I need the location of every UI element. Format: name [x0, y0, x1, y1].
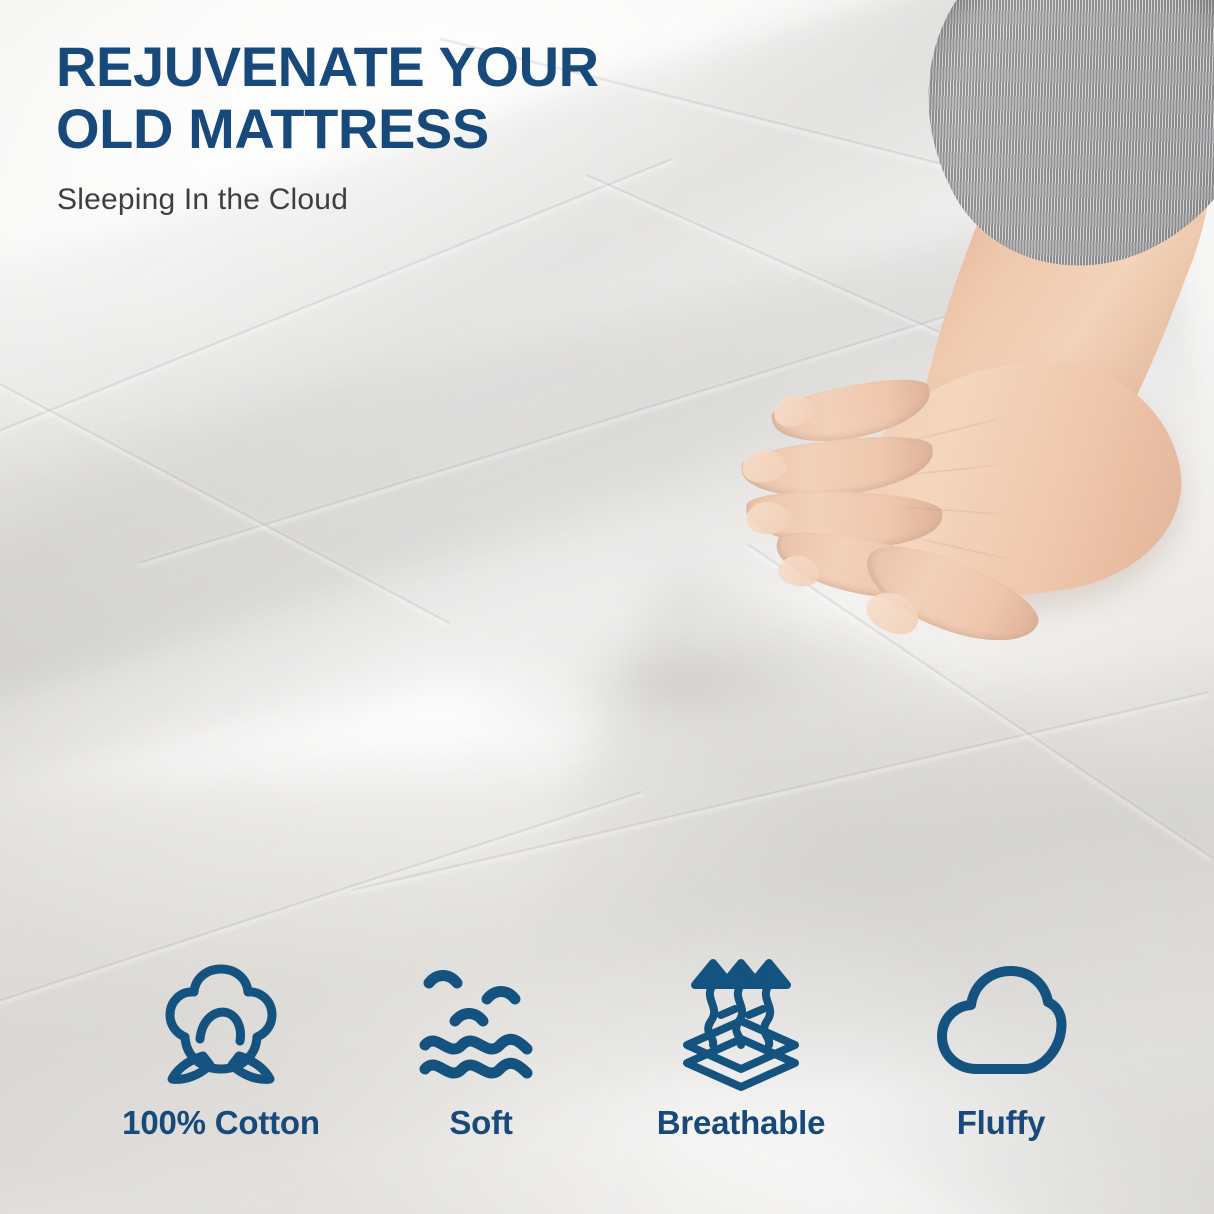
feature-item-fluffy: Fluffy [876, 958, 1126, 1142]
feature-item-breathable: Breathable [616, 958, 866, 1142]
feature-label: Fluffy [957, 1104, 1046, 1142]
feature-list: 100% Cotton Soft [96, 958, 1126, 1142]
feature-item-soft: Soft [356, 958, 606, 1142]
feature-label: Soft [449, 1104, 512, 1142]
breathable-layers-icon [673, 958, 809, 1090]
feature-item-cotton: 100% Cotton [96, 958, 346, 1142]
feature-label: 100% Cotton [122, 1104, 320, 1142]
fingernail [746, 502, 790, 534]
product-banner: REJUVENATE YOUR OLD MATTRESS Sleeping In… [0, 0, 1214, 1214]
feature-label: Breathable [657, 1104, 826, 1142]
headline-line-1: REJUVENATE YOUR [56, 36, 776, 98]
cotton-boll-icon [156, 958, 286, 1090]
subtitle: Sleeping In the Cloud [57, 182, 348, 218]
page-title: REJUVENATE YOUR OLD MATTRESS [56, 36, 776, 160]
soft-waves-icon [415, 958, 547, 1090]
cloud-icon [931, 958, 1071, 1090]
headline-line-2: OLD MATTRESS [56, 98, 776, 160]
